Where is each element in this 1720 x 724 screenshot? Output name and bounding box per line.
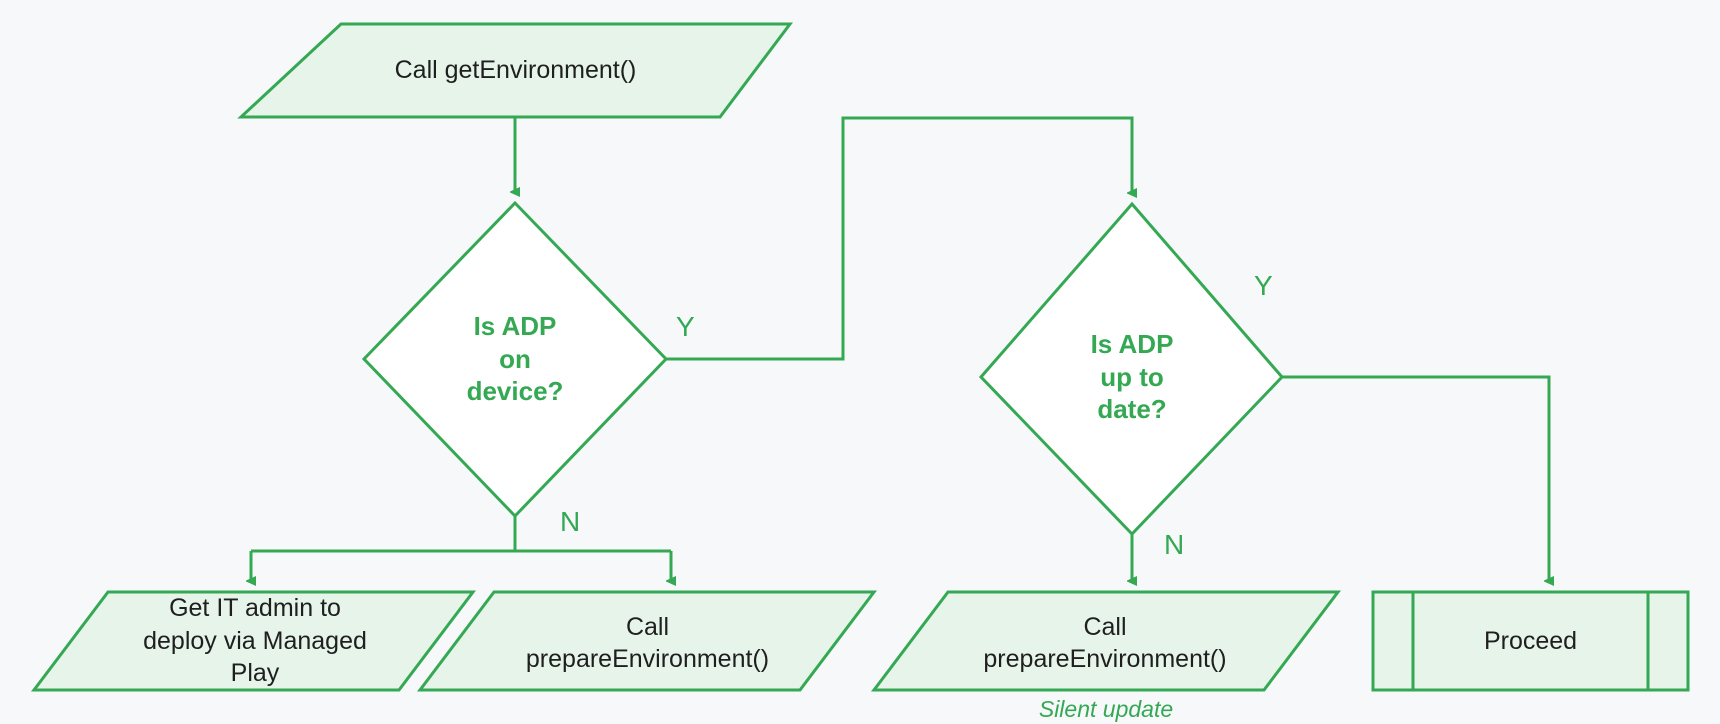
node-shape-start xyxy=(241,24,790,117)
node-shape-proceed xyxy=(1373,592,1688,690)
node-shape-get-it-admin xyxy=(34,592,473,690)
flowchart-canvas: Call getEnvironment() Is ADP on device? … xyxy=(0,0,1720,724)
node-shape-decision-adp-on-device xyxy=(364,203,666,516)
edge-label-device-yes: Y xyxy=(676,313,695,341)
node-shape-prepare-environment-left xyxy=(420,592,874,690)
flowchart-graphics xyxy=(0,0,1720,724)
node-shape-decision-adp-up-to-date xyxy=(981,204,1282,534)
node-shape-prepare-environment-right xyxy=(874,592,1338,690)
edge-uptodate-yes-to-proceed xyxy=(1282,377,1549,581)
edge-label-device-no: N xyxy=(560,508,580,536)
edge-label-uptodate-yes: Y xyxy=(1254,272,1273,300)
edge-label-uptodate-no: N xyxy=(1164,531,1184,559)
annotation-silent-update: Silent update xyxy=(946,698,1266,721)
